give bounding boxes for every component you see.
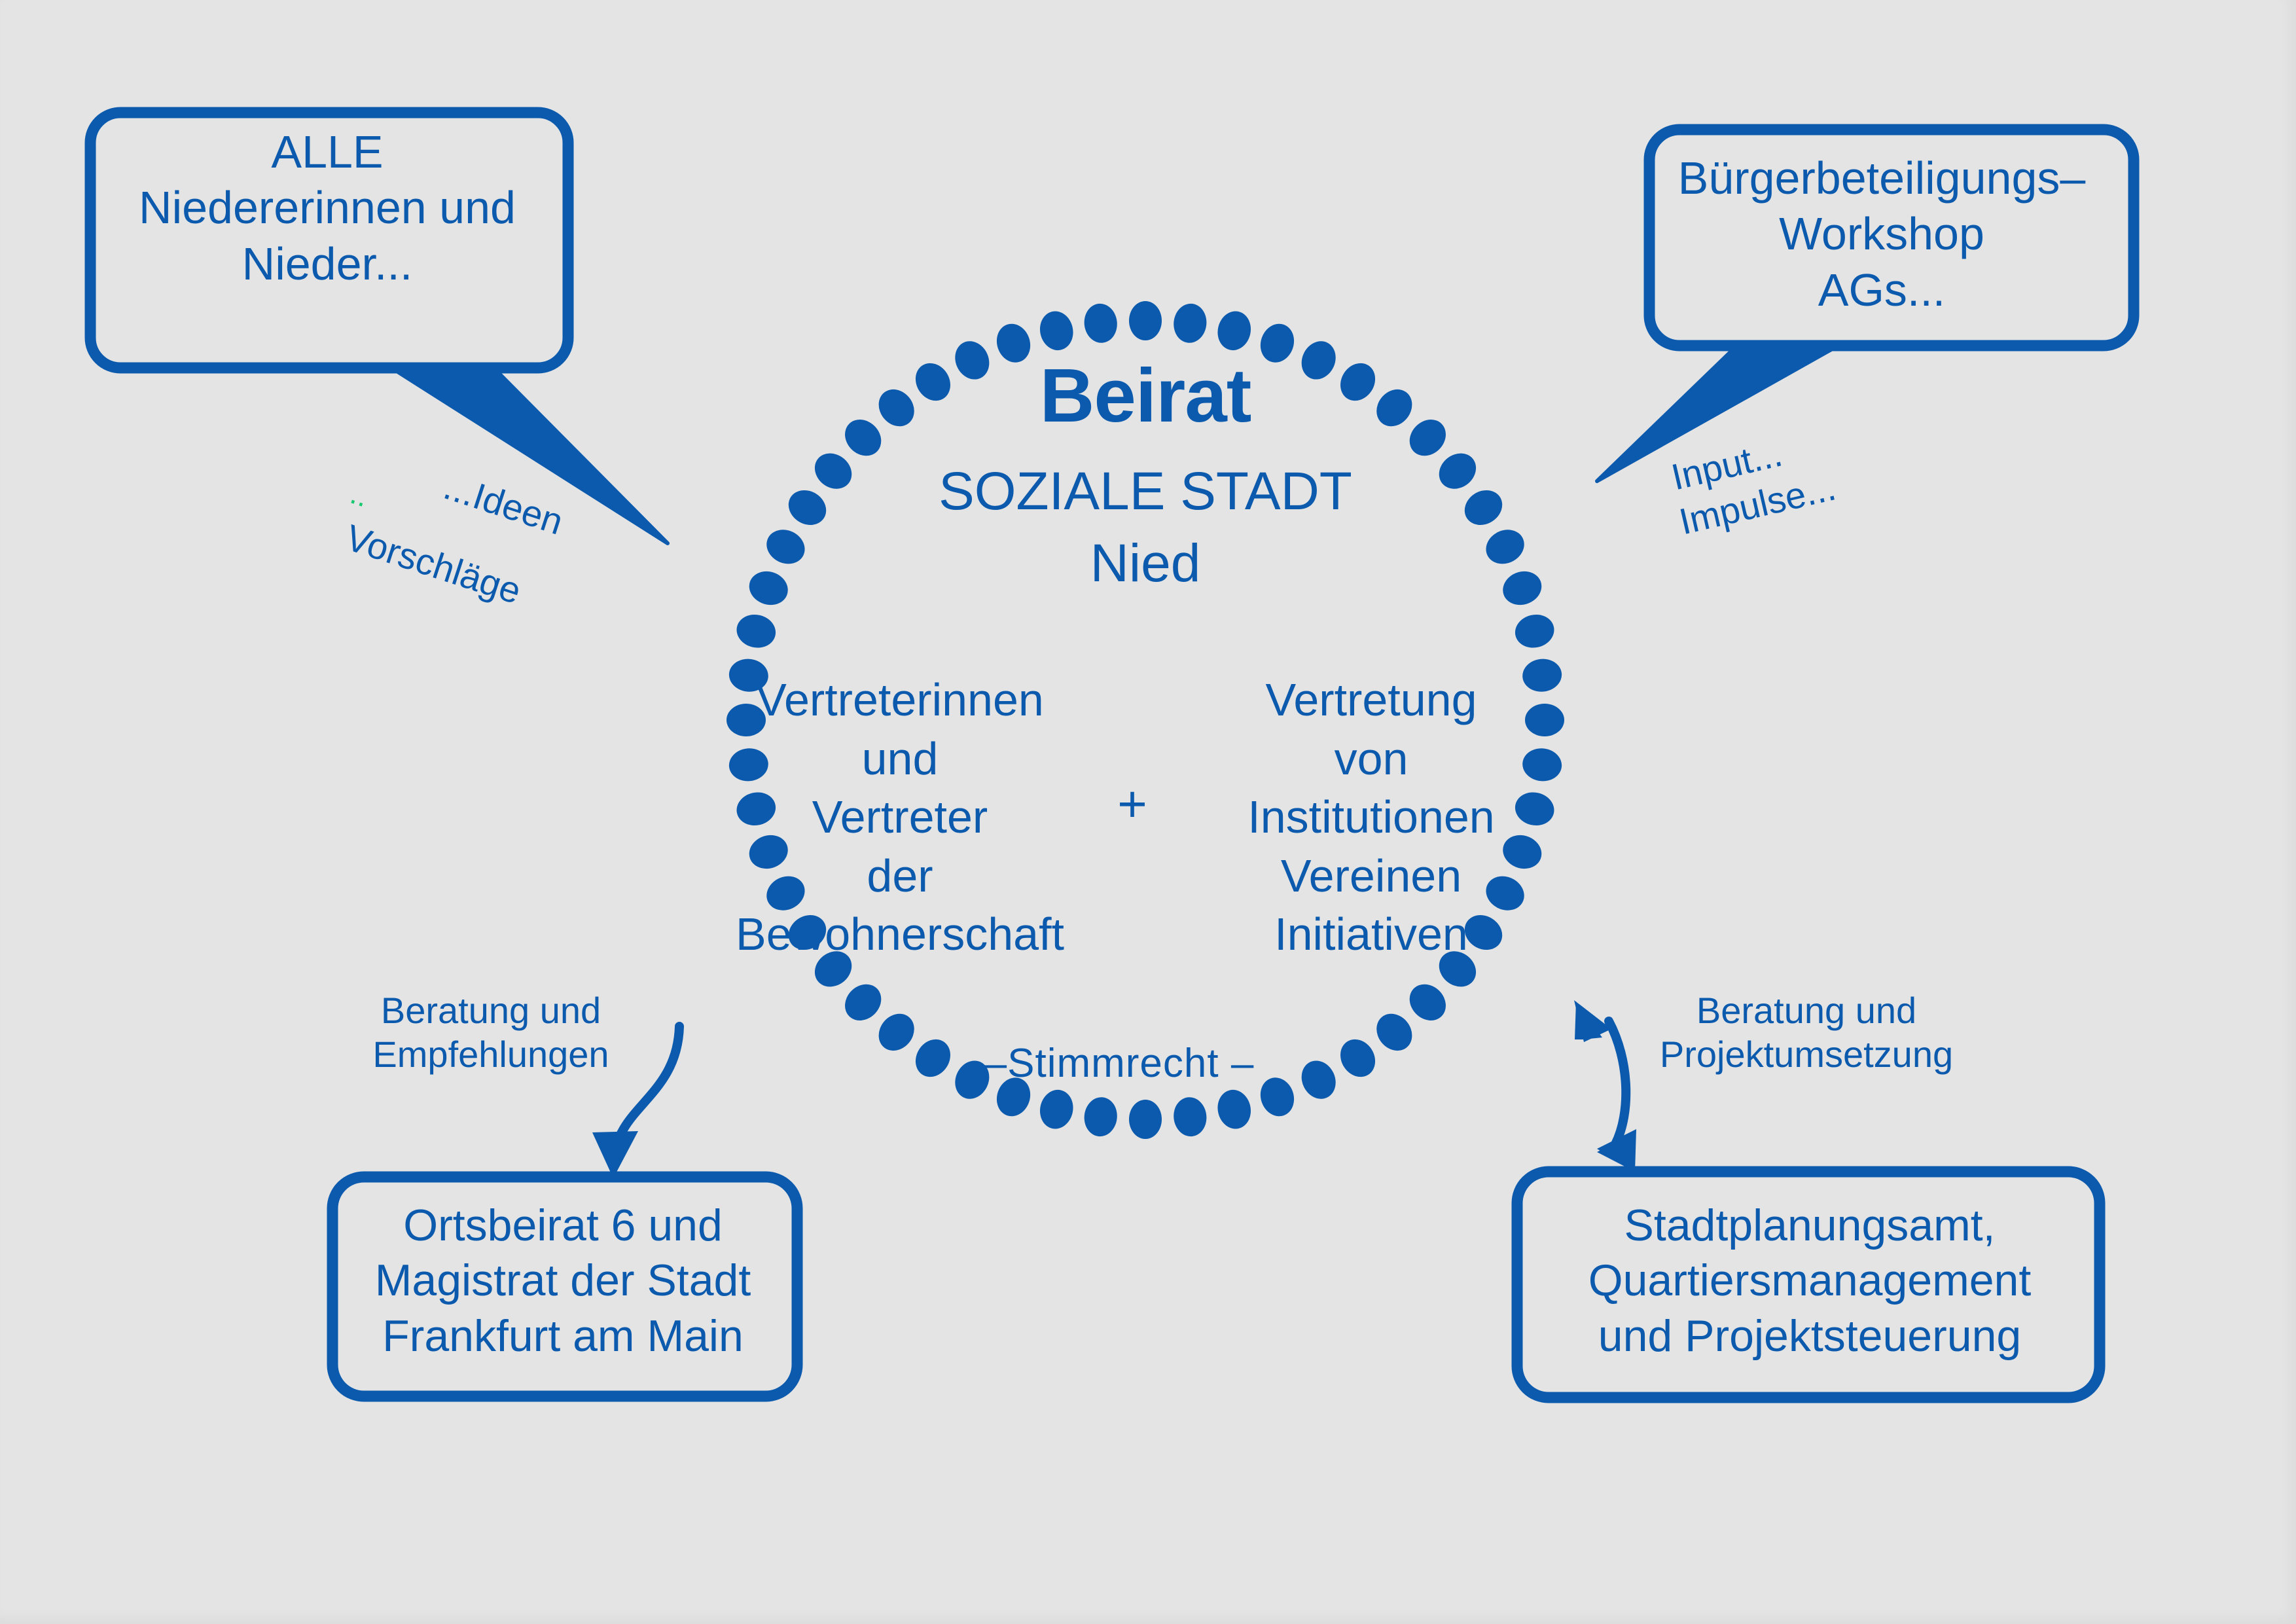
ring-dot [1480,524,1530,570]
annotation-beratung-empfehlungen: Beratung und Empfehlungen [353,988,628,1076]
ring-dot [733,611,779,651]
ring-dot [1036,1087,1077,1132]
ring-dot [1129,301,1162,340]
ring-dot [871,1007,922,1058]
circle-subtitle-line1: SOZIALE STADT [805,461,1486,522]
annotation-beratung-projektumsetzung: Beratung und Projektumsetzung [1636,988,1977,1076]
box-right-label: Stadtplanungsamt, Quartiersmanagement un… [1525,1198,2094,1363]
ring-dot [1082,1096,1119,1138]
circle-column-left: Vertreterinnen und Vertreter der Bewohne… [707,671,1093,964]
ring-dot [838,977,889,1028]
ring-dot [745,566,793,610]
ring-dot [1082,302,1119,344]
arrow-right-double [1574,1000,1636,1172]
ring-dot [1172,302,1208,344]
ring-dot [1214,1087,1255,1132]
ring-dot [1333,1033,1382,1083]
box-left-label: Ortsbeirat 6 und Magistrat der Stadt Fra… [334,1198,792,1363]
diagram-canvas: ALLE Niedererinnen und Nieder... Bürgerb… [0,0,2296,1624]
arrow-left-down-head [592,1131,638,1178]
ring-dot [1129,1100,1162,1139]
ring-dot [1214,308,1255,353]
circle-footnote-stimmrecht: –Stimmrecht – [916,1041,1322,1086]
ring-dot [1172,1096,1208,1138]
ring-dot [1402,977,1453,1028]
circle-subtitle-line2: Nied [805,533,1486,594]
ring-dot [1498,566,1546,610]
ring-dot [1036,308,1077,353]
circle-title: Beirat [818,353,1473,439]
ring-dot [1512,611,1558,651]
ring-dot [1369,1007,1420,1058]
circle-column-right: Vertretung von Institutionen Vereinen In… [1178,671,1564,964]
ring-dot [761,524,811,570]
speech-bubble-left-label: ALLE Niedererinnen und Nieder... [98,124,556,292]
plus-sign: + [1086,776,1178,833]
speech-bubble-right-label: Bürgerbeteiligungs– Workshop AGs... [1656,151,2108,318]
